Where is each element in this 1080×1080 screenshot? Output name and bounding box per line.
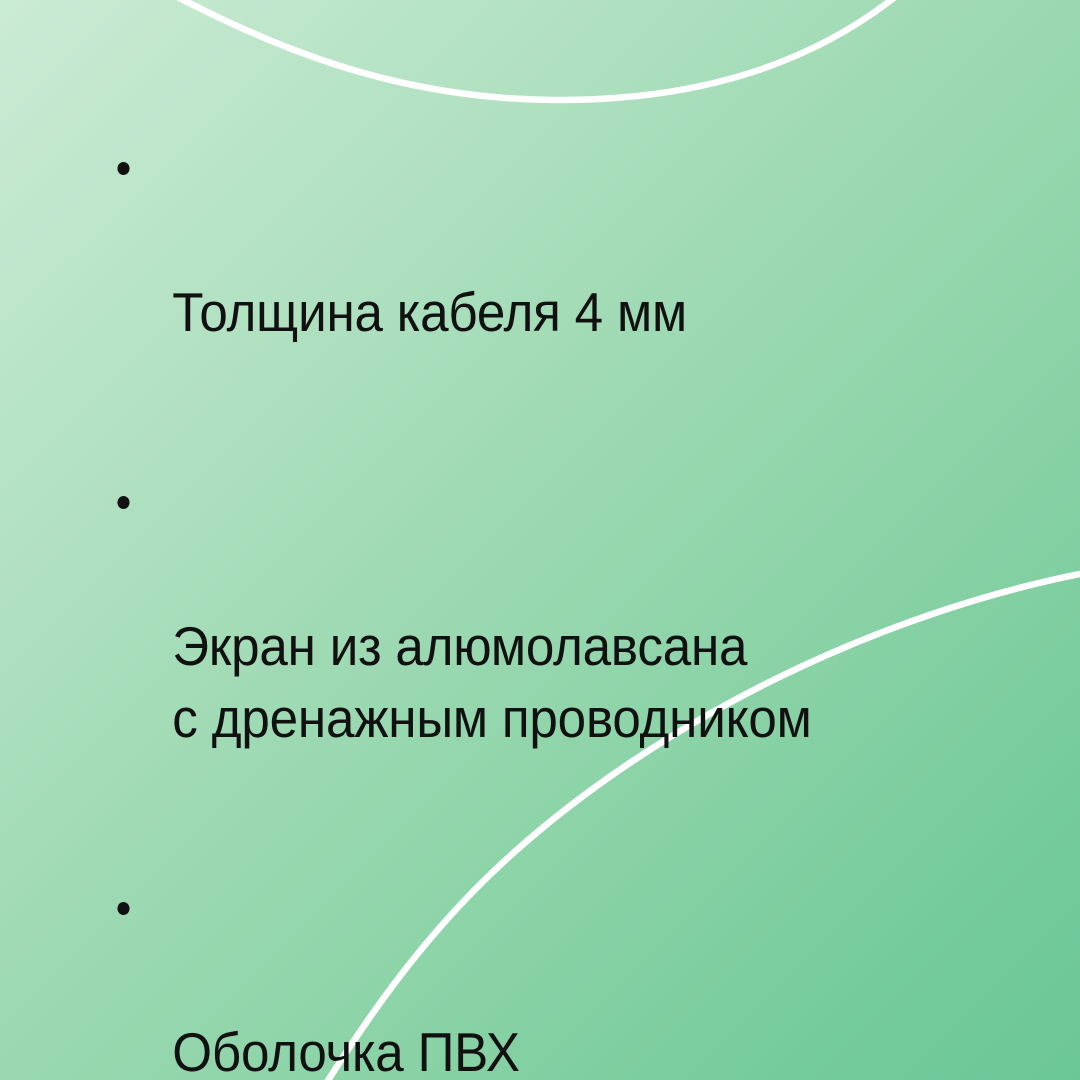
list-item: Толщина кабеля 4 мм [110, 132, 975, 420]
list-item: Оболочка ПВХ [110, 872, 975, 1080]
feature-card: Толщина кабеля 4 мм Экран из алюмолавсан… [0, 0, 1080, 1080]
top-swoosh-curve [168, 0, 906, 100]
feature-bullet-list: Толщина кабеля 4 мм Экран из алюмолавсан… [110, 132, 1040, 1080]
feature-text: Оболочка ПВХ [172, 1016, 975, 1080]
bullet-dot-icon [117, 902, 129, 915]
bullet-dot-icon [117, 162, 129, 175]
feature-text: Экран из алюмолавсана с дренажным провод… [172, 610, 975, 754]
bullet-dot-icon [117, 496, 129, 509]
feature-text: Толщина кабеля 4 мм [172, 276, 975, 348]
list-item: Экран из алюмолавсана с дренажным провод… [110, 466, 975, 826]
